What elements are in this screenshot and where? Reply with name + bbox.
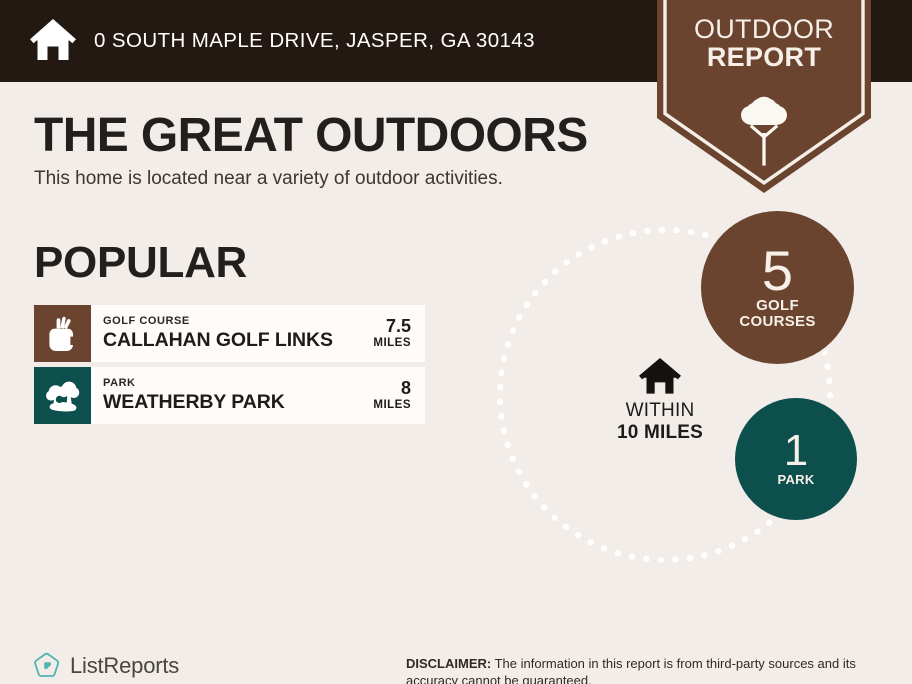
list-item-body: GOLF COURSE CALLAHAN GOLF LINKS 7.5 MILE… — [91, 305, 425, 362]
golf-bag-icon-tile — [34, 305, 91, 362]
stat-count: 5 — [762, 245, 793, 297]
list-item[interactable]: GOLF COURSE CALLAHAN GOLF LINKS 7.5 MILE… — [34, 305, 425, 362]
list-item-distance-value: 8 — [401, 379, 411, 398]
badge-shape — [657, 0, 871, 194]
within-radius-block: WITHIN 10 MILES — [592, 358, 728, 445]
disclaimer: DISCLAIMER: The information in this repo… — [406, 655, 906, 684]
within-label-line1: WITHIN — [592, 400, 728, 422]
list-item-distance-value: 7.5 — [386, 317, 411, 336]
house-icon — [639, 358, 681, 396]
list-item-labels: GOLF COURSE CALLAHAN GOLF LINKS — [103, 315, 333, 351]
house-icon — [30, 19, 76, 63]
popular-list: GOLF COURSE CALLAHAN GOLF LINKS 7.5 MILE… — [34, 305, 425, 429]
section-heading-popular: POPULAR — [34, 238, 247, 288]
stat-circle-parks[interactable]: 1 PARK — [735, 398, 857, 520]
list-item-category: PARK — [103, 377, 285, 390]
page-subtitle: This home is located near a variety of o… — [34, 168, 503, 190]
stat-label-line1: PARK — [777, 473, 814, 487]
outdoor-report-page: 0 SOUTH MAPLE DRIVE, JASPER, GA 30143 OU… — [0, 0, 912, 684]
list-item-labels: PARK WEATHERBY PARK — [103, 377, 285, 413]
list-item-name: CALLAHAN GOLF LINKS — [103, 329, 333, 351]
golf-bag-icon — [46, 316, 80, 352]
list-item-category: GOLF COURSE — [103, 315, 333, 328]
listreports-logo[interactable]: ListReports — [34, 652, 179, 679]
stat-label-line2: COURSES — [739, 314, 815, 330]
disclaimer-label: DISCLAIMER: — [406, 656, 491, 671]
listreports-logo-icon — [34, 652, 61, 679]
list-item-name: WEATHERBY PARK — [103, 391, 285, 413]
trees-icon — [45, 379, 81, 413]
listreports-logo-text: ListReports — [70, 653, 179, 679]
list-item[interactable]: PARK WEATHERBY PARK 8 MILES — [34, 367, 425, 424]
outdoor-report-badge: OUTDOOR REPORT — [657, 0, 871, 194]
list-item-distance: 8 MILES — [373, 379, 411, 413]
stat-count: 1 — [784, 431, 808, 471]
header-address: 0 SOUTH MAPLE DRIVE, JASPER, GA 30143 — [94, 29, 535, 53]
within-label-line2: 10 MILES — [592, 422, 728, 444]
trees-icon-tile — [34, 367, 91, 424]
stat-label-line1: GOLF — [756, 298, 799, 314]
list-item-body: PARK WEATHERBY PARK 8 MILES — [91, 367, 425, 424]
list-item-distance-unit: MILES — [373, 399, 411, 413]
page-title: THE GREAT OUTDOORS — [34, 108, 588, 163]
list-item-distance: 7.5 MILES — [373, 317, 411, 351]
list-item-distance-unit: MILES — [373, 337, 411, 351]
stat-circle-golf-courses[interactable]: 5 GOLF COURSES — [701, 211, 854, 364]
